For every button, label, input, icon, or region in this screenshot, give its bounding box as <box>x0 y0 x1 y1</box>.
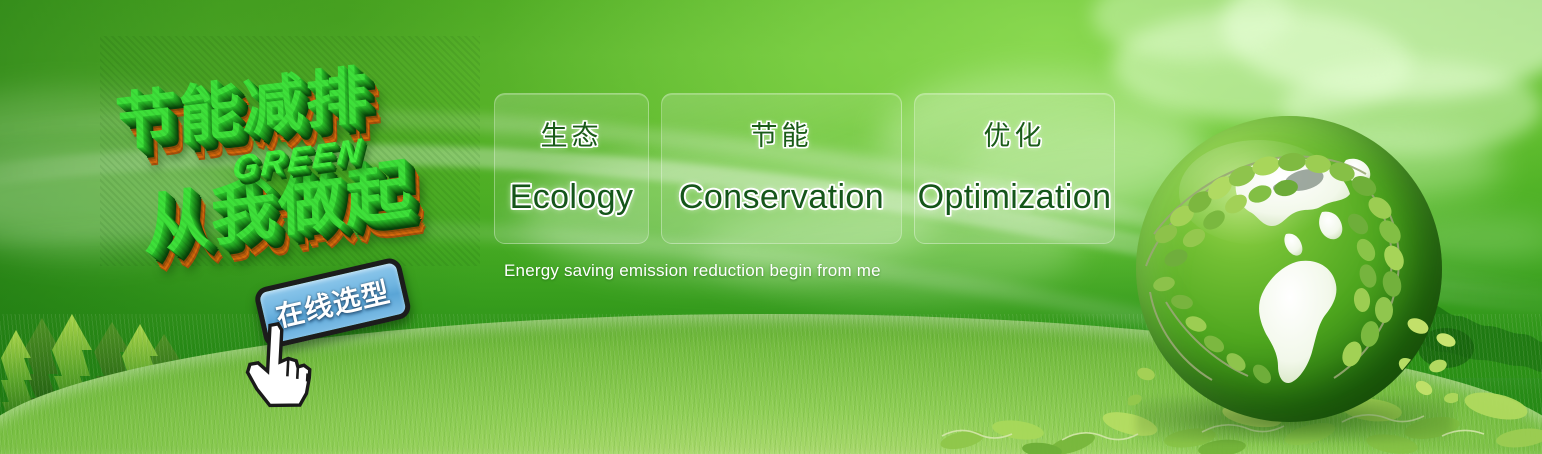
card-title-en: Conservation <box>679 180 884 214</box>
feature-card-optimization[interactable]: 优化 Optimization <box>914 93 1115 244</box>
logo-3d-text: 节能减排 从我做起 GREEN <box>100 36 480 266</box>
green-banner: 节能减排 从我做起 GREEN 在线选型 生态 Ecology 节能 Conse… <box>0 0 1542 454</box>
card-title-zh: 优化 <box>984 123 1046 150</box>
globe-vines-icon <box>1136 116 1442 422</box>
feature-card-ecology[interactable]: 生态 Ecology <box>494 93 649 244</box>
vine-covered-earth-globe <box>1128 108 1458 438</box>
feature-card-conservation[interactable]: 节能 Conservation <box>661 93 902 244</box>
card-title-en: Optimization <box>918 180 1112 214</box>
tagline: Energy saving emission reduction begin f… <box>504 261 881 281</box>
card-title-zh: 生态 <box>541 123 603 150</box>
card-title-en: Ecology <box>510 180 634 214</box>
card-title-zh: 节能 <box>751 123 813 150</box>
feature-cards: 生态 Ecology 节能 Conservation 优化 Optimizati… <box>494 93 1115 244</box>
